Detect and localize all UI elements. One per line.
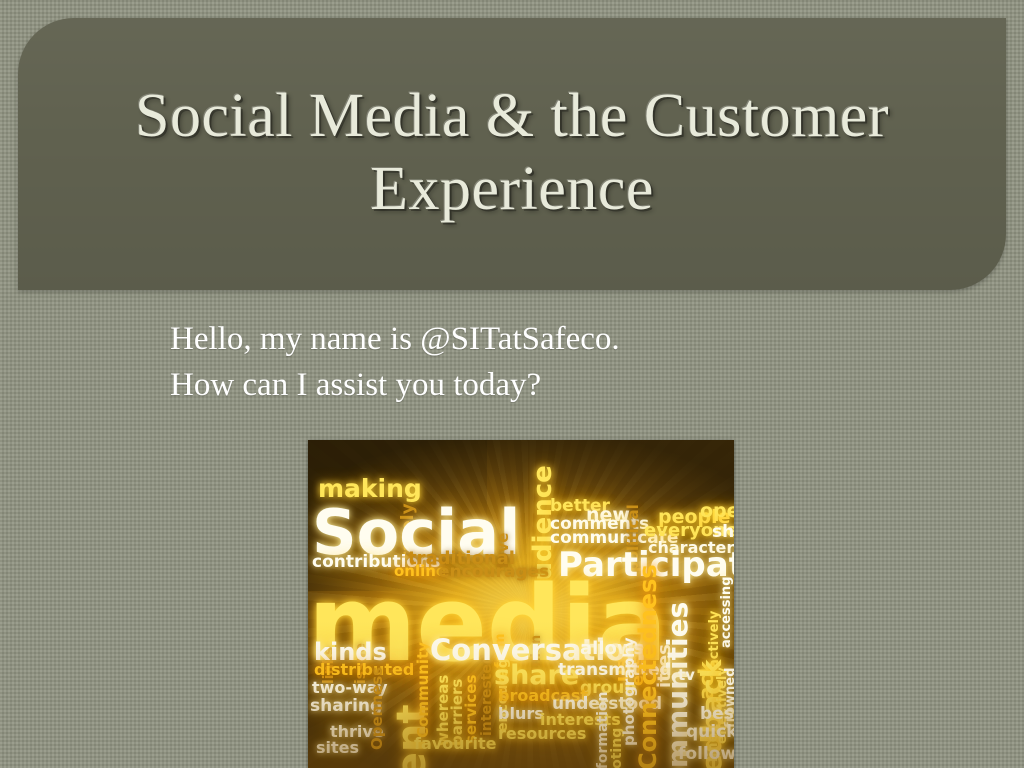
title-plate: Social Media & the Customer Experience <box>18 18 1006 290</box>
page-title: Social Media & the Customer Experience <box>58 80 966 225</box>
wordcloud-word: open <box>700 502 734 521</box>
social-media-word-cloud-image: makingrarelySocialloveaudiencebetternewc… <box>308 440 734 768</box>
slide-subtitle: Hello, my name is @SITatSafeco. How can … <box>170 316 930 408</box>
presentation-slide: Social Media & the Customer Experience H… <box>0 0 1024 768</box>
wordcloud-glow-bottom <box>308 620 734 768</box>
